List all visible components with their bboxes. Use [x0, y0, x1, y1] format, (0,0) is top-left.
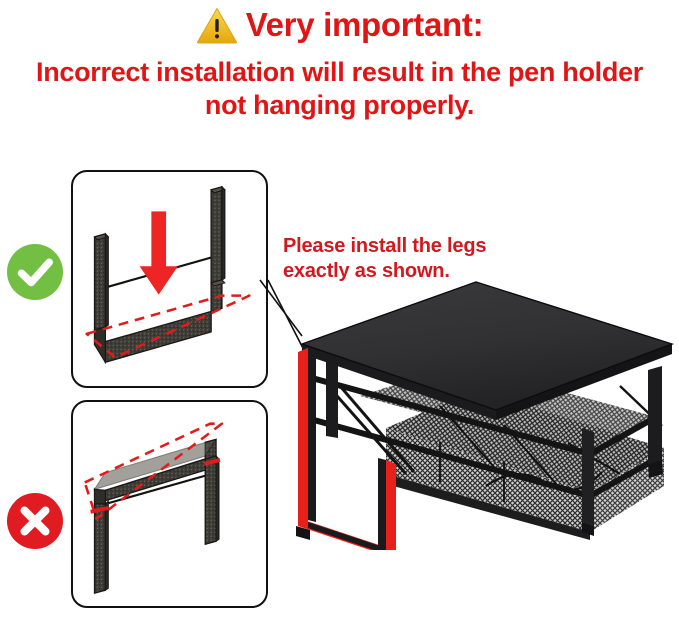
- correct-installation-panel: [71, 170, 268, 388]
- x-circle-icon: [6, 492, 64, 550]
- callout-line1: Please install the legs: [283, 234, 573, 259]
- warning-triangle-icon: [196, 6, 238, 44]
- instruction-graphic: Very important: Incorrect installation w…: [0, 0, 679, 621]
- headline-block: Very important: Incorrect installation w…: [0, 0, 679, 140]
- headline-subtitle: Incorrect installation will result in th…: [0, 56, 679, 122]
- headline-title: Very important:: [246, 6, 484, 44]
- right-prong: [211, 187, 225, 283]
- incorrect-leg-diagram: [73, 402, 266, 606]
- check-circle-icon: [6, 243, 64, 301]
- rear-left-leg: [326, 354, 338, 438]
- red-down-arrow-icon: [140, 211, 178, 294]
- incorrect-installation-panel: [71, 400, 268, 608]
- headline-subtitle-line2: not hanging properly.: [0, 89, 679, 122]
- top-crossbar: [95, 439, 216, 504]
- headline-subtitle-line1: Incorrect installation will result in th…: [0, 56, 679, 89]
- right-prong: [205, 456, 219, 544]
- headline-row: Very important:: [0, 6, 679, 44]
- callout-text: Please install the legs exactly as shown…: [283, 234, 573, 284]
- product-illustration: [290, 278, 679, 550]
- correct-badge: [6, 243, 64, 301]
- rear-right-leg: [648, 366, 663, 478]
- monitor-stand-desk-organizer: [290, 278, 679, 550]
- incorrect-badge: [6, 492, 64, 550]
- left-prong: [95, 234, 109, 330]
- front-right-leg: [582, 428, 594, 536]
- correct-leg-diagram: [73, 172, 266, 386]
